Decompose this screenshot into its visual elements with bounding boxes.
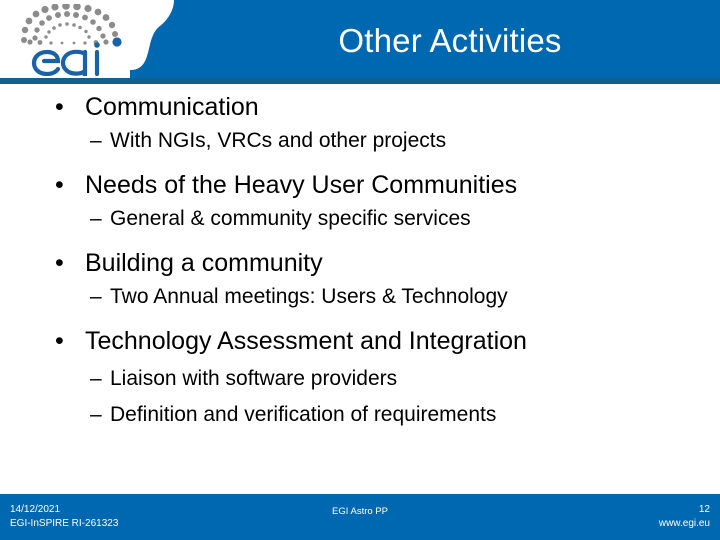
- slide-footer: 14/12/2021 EGI-InSPIRE RI-261323 EGI Ast…: [0, 494, 720, 540]
- bullet-level1-text: Building a community: [85, 249, 323, 277]
- footer-right-group: 12 www.egi.eu: [659, 503, 710, 531]
- dash-marker-icon: –: [90, 206, 102, 232]
- footer-website-link[interactable]: www.egi.eu: [659, 517, 710, 531]
- egi-logo: [18, 4, 134, 76]
- bullet-level1-text: Communication: [85, 93, 259, 121]
- footer-center-label: EGI Astro PP: [0, 505, 720, 518]
- dash-marker-icon: –: [90, 128, 102, 154]
- bullet-level1: • Building a community: [0, 248, 720, 278]
- logo-wordmark-dot: [94, 42, 100, 48]
- bullet-level2-text: With NGIs, VRCs and other projects: [110, 129, 446, 152]
- bullet-marker-icon: •: [55, 92, 64, 122]
- bullet-level2: – Liaison with software providers: [0, 366, 720, 392]
- slide-content: • Communication – With NGIs, VRCs and ot…: [0, 92, 720, 490]
- bullet-level2: – With NGIs, VRCs and other projects: [0, 128, 720, 154]
- logo-wordmark: [34, 52, 97, 76]
- dash-marker-icon: –: [90, 366, 102, 392]
- logo-dot-arc: [21, 4, 118, 45]
- footer-project: EGI-InSPIRE RI-261323: [10, 517, 118, 531]
- header-curve-shape: [130, 0, 190, 78]
- bullet-level1: • Technology Assessment and Integration: [0, 326, 720, 356]
- bullet-block-1: • Communication – With NGIs, VRCs and ot…: [0, 92, 720, 154]
- header-rule: [0, 78, 720, 84]
- bullet-block-3: • Building a community – Two Annual meet…: [0, 248, 720, 310]
- bullet-level2: – Definition and verification of require…: [0, 402, 720, 428]
- bullet-level2: – Two Annual meetings: Users & Technolog…: [0, 284, 720, 310]
- bullet-level2-text: Two Annual meetings: Users & Technology: [110, 285, 508, 308]
- bullet-marker-icon: •: [55, 326, 64, 356]
- logo-accent-dot: [112, 37, 121, 46]
- bullet-marker-icon: •: [55, 170, 64, 200]
- bullet-level1: • Needs of the Heavy User Communities: [0, 170, 720, 200]
- bullet-marker-icon: •: [55, 248, 64, 278]
- bullet-level1-text: Needs of the Heavy User Communities: [85, 171, 517, 199]
- bullet-level2-text: Definition and verification of requireme…: [110, 403, 496, 426]
- page-title: Other Activities: [190, 22, 710, 60]
- bullet-level2-text: General & community specific services: [110, 207, 471, 230]
- bullet-level2: – General & community specific services: [0, 206, 720, 232]
- dash-marker-icon: –: [90, 284, 102, 310]
- bullet-level1: • Communication: [0, 92, 720, 122]
- slide-header: Other Activities: [0, 0, 720, 84]
- bullet-block-4: • Technology Assessment and Integration …: [0, 326, 720, 428]
- bullet-level2-text: Liaison with software providers: [110, 367, 397, 390]
- bullet-level1-text: Technology Assessment and Integration: [85, 327, 527, 355]
- footer-page-number: 12: [659, 503, 710, 517]
- dash-marker-icon: –: [90, 402, 102, 428]
- bullet-block-2: • Needs of the Heavy User Communities – …: [0, 170, 720, 232]
